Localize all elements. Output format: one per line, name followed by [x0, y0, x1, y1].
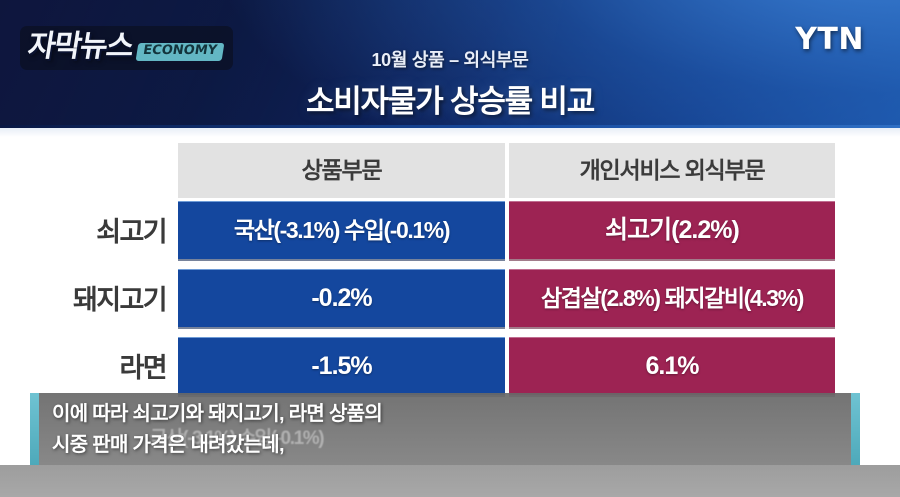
caption-text: 이에 따라 쇠고기와 돼지고기, 라면 상품의 시중 판매 가격은 내려갔는데,	[52, 399, 838, 461]
cell-goods-pork: -0.2%	[178, 269, 505, 327]
comparison-table: 상품부문 개인서비스 외식부문 국산(-3.1%) 수입(-0.1%) 쇠고기(…	[178, 143, 835, 405]
bottom-strip	[0, 465, 900, 497]
table-row: 국산(-3.1%) 수입(-0.1%) 쇠고기(2.2%)	[178, 201, 835, 259]
table-header-row: 상품부문 개인서비스 외식부문	[178, 143, 835, 198]
cell-goods-ramen: -1.5%	[178, 337, 505, 395]
caption-left-accent-bar	[30, 393, 39, 465]
column-header-service: 개인서비스 외식부문	[509, 143, 835, 198]
table-row: -0.2% 삼겹살(2.8%) 돼지갈비(4.3%)	[178, 269, 835, 327]
cell-service-beef: 쇠고기(2.2%)	[509, 201, 835, 259]
subtitle-caption-box: 국산(-3.1%) 수입(-0.1%) 이에 따라 쇠고기와 돼지고기, 라면 …	[30, 393, 860, 465]
eyebrow-text: 10월 상품 – 외식부문	[0, 46, 900, 72]
column-header-goods: 상품부문	[178, 143, 505, 198]
table-row-labels: 쇠고기 돼지고기 라면	[0, 200, 172, 404]
table-row-label: 돼지고기	[0, 268, 172, 326]
cell-service-pork: 삼겹살(2.8%) 돼지갈비(4.3%)	[509, 269, 835, 327]
header-underband	[0, 128, 900, 137]
table-row-label: 라면	[0, 336, 172, 394]
table-row-label: 쇠고기	[0, 200, 172, 258]
page-title: 소비자물가 상승률 비교	[0, 76, 900, 121]
header-band: 자막뉴스 ECONOMY YTN 10월 상품 – 외식부문 소비자물가 상승률…	[0, 0, 900, 128]
cell-service-ramen: 6.1%	[509, 337, 835, 395]
news-graphic-screen: 자막뉴스 ECONOMY YTN 10월 상품 – 외식부문 소비자물가 상승률…	[0, 0, 900, 497]
cell-goods-beef: 국산(-3.1%) 수입(-0.1%)	[178, 201, 505, 259]
table-row: -1.5% 6.1%	[178, 337, 835, 395]
caption-right-accent-bar	[851, 393, 860, 465]
